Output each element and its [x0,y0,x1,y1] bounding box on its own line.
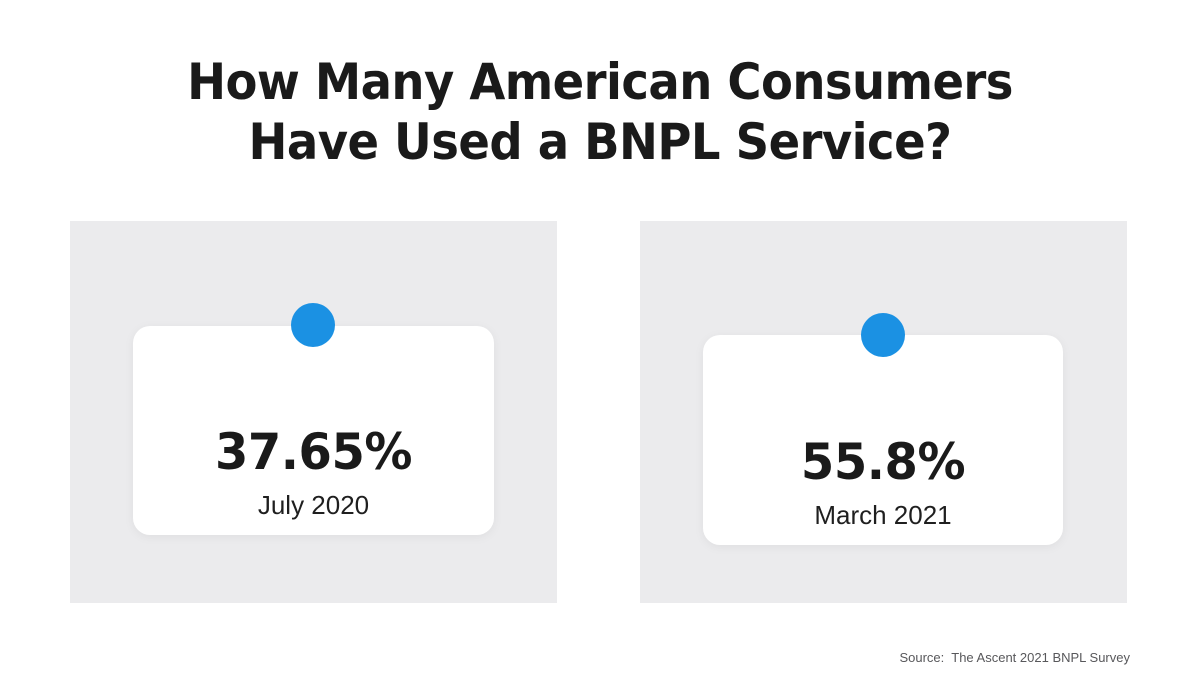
page-title-line-2: Have Used a BNPL Service? [42,112,1158,172]
stat-value-march-2021: 55.8% [710,433,1056,491]
stat-label-march-2021: March 2021 [703,499,1063,531]
stat-value-july-2020: 37.65% [140,423,487,481]
source-attribution: Source: The Ascent 2021 BNPL Survey [899,650,1130,665]
blue-dot-icon-july-2020 [291,303,335,347]
stat-card-march-2021: 55.8% March 2021 [703,335,1063,545]
page-title-line-1: How Many American Consumers [42,52,1158,112]
stat-card-content: 37.65% July 2020 [133,423,494,521]
stat-card-content: 55.8% March 2021 [703,433,1063,531]
blue-dot-icon-march-2021 [861,313,905,357]
stat-card-july-2020: 37.65% July 2020 [133,326,494,535]
infographic-canvas: How Many American Consumers Have Used a … [0,0,1200,700]
stat-label-july-2020: July 2020 [133,489,494,521]
page-title: How Many American Consumers Have Used a … [0,52,1200,172]
